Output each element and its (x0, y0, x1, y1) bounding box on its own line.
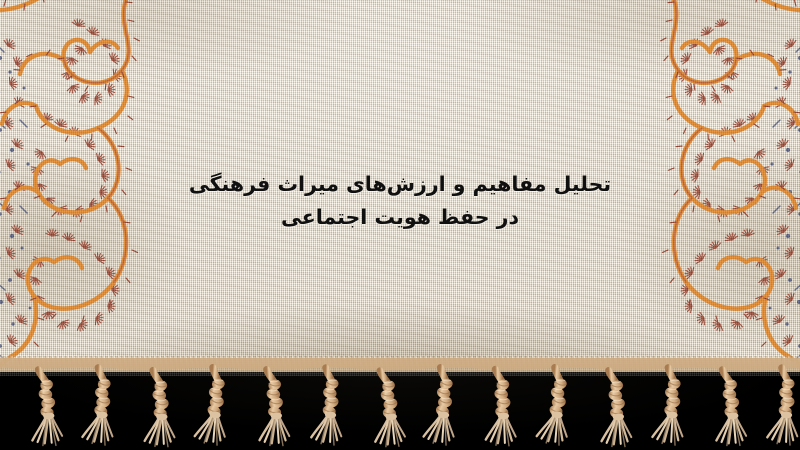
slide-canvas: تحلیل مفاهیم و ارزش‌های میراث فرهنگی در … (0, 0, 800, 450)
tassel-fringe (0, 358, 800, 450)
embroidery-motif-left (0, 0, 254, 376)
embroidery-motif-right (546, 0, 800, 376)
